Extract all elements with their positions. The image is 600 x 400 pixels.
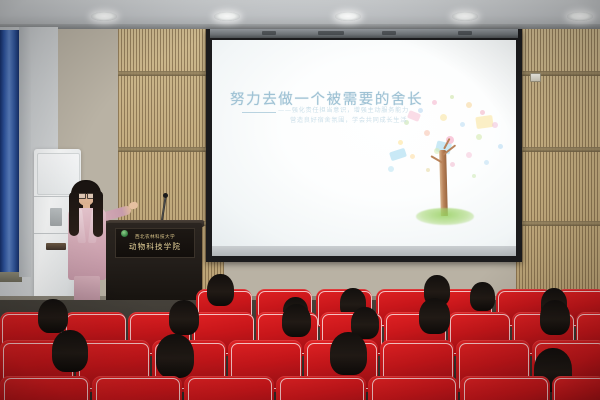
- tree-confetti-14: [498, 144, 503, 149]
- slide-divider: [242, 112, 276, 113]
- tree-confetti-11: [476, 134, 482, 140]
- microphone-icon: [163, 193, 168, 198]
- downlight-3: [335, 12, 361, 21]
- audience-member: [282, 304, 311, 337]
- window-frame: [0, 30, 19, 275]
- auditorium-seat: [552, 376, 600, 400]
- podium-university-name: 西北农林科技大学: [135, 234, 175, 240]
- speaker-hair-right: [93, 191, 103, 237]
- downlight-1: [91, 12, 117, 21]
- downlight-5: [567, 12, 593, 21]
- auditorium-seat: [276, 376, 366, 400]
- tree-confetti-6: [440, 114, 447, 121]
- tree-confetti-17: [410, 154, 415, 159]
- tree-confetti-3: [466, 102, 472, 108]
- wall-fixture-icon: [530, 73, 541, 82]
- auditorium-seat: [0, 376, 90, 400]
- auditorium-seat: [184, 376, 274, 400]
- auditorium-seat: [92, 376, 182, 400]
- tree-confetti-10: [424, 130, 430, 136]
- wall-column: [19, 27, 31, 277]
- tree-confetti-5: [480, 110, 485, 115]
- ceiling: [0, 0, 600, 27]
- tree-leaf-shape-1: [389, 148, 407, 162]
- audience-member: [470, 282, 495, 311]
- tree-confetti-21: [426, 168, 430, 172]
- tree-confetti-2: [450, 95, 454, 99]
- speaker-lower-body: [74, 276, 100, 302]
- tree-leaf-shape-3: [475, 115, 494, 129]
- tree-confetti-22: [472, 174, 476, 178]
- audience-member: [207, 274, 234, 306]
- eyeglasses-icon: [78, 193, 93, 197]
- downlight-2: [214, 12, 240, 21]
- tree-confetti-8: [492, 122, 498, 128]
- audience-member: [169, 300, 199, 335]
- slide-subtitle-line-1: ——强化责任担当意识，增强主动服务能力: [278, 106, 409, 115]
- downlight-4: [452, 12, 478, 21]
- tree-confetti-20: [388, 166, 394, 172]
- auditorium-seat: [460, 376, 550, 400]
- tree-confetti-13: [398, 140, 403, 145]
- speaker-hair-left: [69, 192, 79, 236]
- audience-member: [156, 334, 194, 378]
- tree-confetti-1: [432, 100, 437, 105]
- lecture-hall-photo: 努力去做一个被需要的舍长 ——强化责任担当意识，增强主动服务能力 营造良好宿舍氛…: [0, 0, 600, 400]
- slide-subtitle-line-2: 营造良好宿舍氛围，学会共同成长生活: [290, 116, 407, 125]
- projection-screen: 努力去做一个被需要的舍长 ——强化责任担当意识，增强主动服务能力 营造良好宿舍氛…: [212, 40, 516, 246]
- speaker: [58, 176, 124, 302]
- audience-member: [540, 300, 570, 335]
- tree-confetti-18: [484, 160, 489, 165]
- audience-member: [419, 298, 450, 334]
- wood-slat-panel-right: [516, 29, 600, 329]
- projection-screen-bottom-bar: [212, 246, 516, 256]
- auditorium-seat: [368, 376, 458, 400]
- podium-college-name: 动物科技学院: [129, 241, 181, 252]
- audience-member: [52, 330, 88, 372]
- tree-confetti-9: [460, 122, 465, 127]
- audience-member: [330, 332, 367, 375]
- tree-confetti-19: [450, 162, 455, 167]
- audience-member: [38, 299, 68, 333]
- tree-grass: [416, 208, 474, 225]
- tree-confetti-16: [466, 152, 472, 158]
